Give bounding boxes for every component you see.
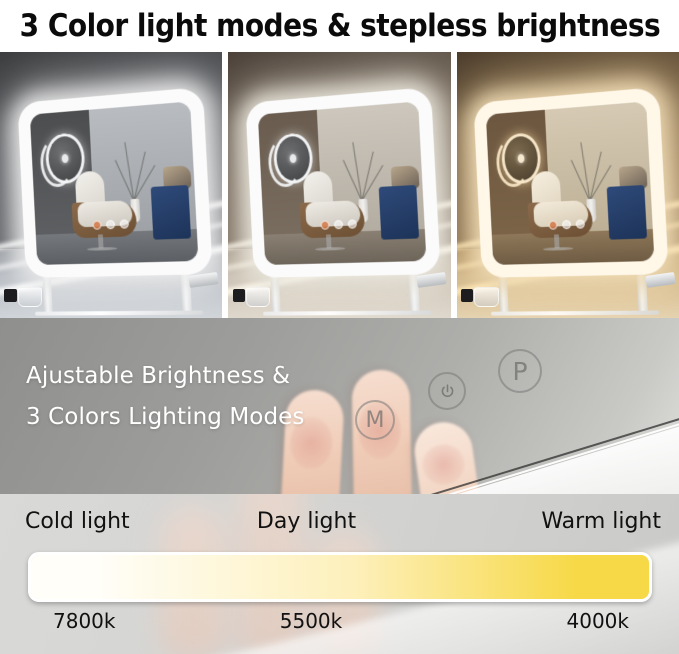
power-glyph <box>439 383 456 400</box>
reflected-side-cushion <box>391 165 419 189</box>
product-panel-row <box>0 52 679 318</box>
stand-base <box>34 310 203 315</box>
reflected-floor <box>35 228 198 264</box>
title-banner: 3 Color light modes & stepless brightnes… <box>0 0 679 52</box>
mode-m-icon[interactable]: M <box>355 400 395 440</box>
reflected-armchair <box>69 168 136 242</box>
vase <box>130 198 141 221</box>
led-frame <box>17 86 213 277</box>
stand-base <box>491 310 660 315</box>
led-frame <box>245 86 441 277</box>
color-temperature-section: Cold light Day light Warm light 7800k 55… <box>0 494 679 654</box>
cold-light-panel <box>0 52 222 318</box>
page-title: 3 Color light modes & stepless brightnes… <box>19 9 660 43</box>
mirror-glass <box>29 101 198 264</box>
mirror-glass <box>258 101 427 264</box>
vanity-mirror <box>474 86 670 277</box>
color-temperature-gradient-bar <box>28 552 652 602</box>
reflected-armchair <box>298 168 365 242</box>
reflected-ottoman <box>379 184 419 239</box>
power-icon[interactable] <box>428 372 466 410</box>
reflected-control-dots <box>549 219 585 229</box>
vase <box>358 198 369 221</box>
mirror-glass <box>486 101 655 264</box>
vanity-mirror <box>245 86 441 277</box>
reflected-side-cushion <box>619 165 647 189</box>
reflected-armchair <box>526 168 593 242</box>
reflected-plant <box>573 131 634 222</box>
reflected-control-dots <box>320 219 356 229</box>
vanity-mirror <box>17 86 213 277</box>
magnifier-knob <box>61 154 68 163</box>
glass-jar <box>474 287 498 308</box>
magnifier-knob <box>290 154 297 163</box>
warm-light-panel <box>457 52 679 318</box>
reflected-control-dots <box>92 219 128 229</box>
black-accessory <box>233 289 245 302</box>
value-day-light: 5500k <box>280 609 342 633</box>
preset-p-icon[interactable]: P <box>498 349 542 393</box>
reflected-ottoman <box>607 184 647 239</box>
color-temperature-values: 7800k 5500k 4000k <box>25 609 661 633</box>
reflected-plant <box>345 131 406 222</box>
reflected-side-cushion <box>163 165 191 189</box>
black-accessory <box>4 289 16 302</box>
stand-base <box>263 310 432 315</box>
value-cold-light: 7800k <box>53 609 115 633</box>
black-accessory <box>461 289 473 302</box>
gradient-fill <box>31 555 649 599</box>
label-warm-light: Warm light <box>541 509 661 534</box>
feature-line-1: Ajustable Brightness & <box>26 356 305 397</box>
vase <box>587 198 598 221</box>
day-light-panel <box>228 52 450 318</box>
feature-headline: Ajustable Brightness & 3 Colors Lighting… <box>26 356 305 438</box>
feature-section: Ajustable Brightness & 3 Colors Lighting… <box>0 318 679 494</box>
glass-jar <box>18 287 42 308</box>
label-cold-light: Cold light <box>25 509 130 534</box>
reflected-plant <box>117 131 178 222</box>
glass-jar <box>246 287 270 308</box>
label-day-light: Day light <box>257 509 356 534</box>
reflected-floor <box>492 228 655 264</box>
color-temperature-labels: Cold light Day light Warm light <box>25 509 661 534</box>
reflected-ottoman <box>150 184 190 239</box>
value-warm-light: 4000k <box>567 609 629 633</box>
feature-line-2: 3 Colors Lighting Modes <box>26 397 305 438</box>
led-frame <box>474 86 670 277</box>
